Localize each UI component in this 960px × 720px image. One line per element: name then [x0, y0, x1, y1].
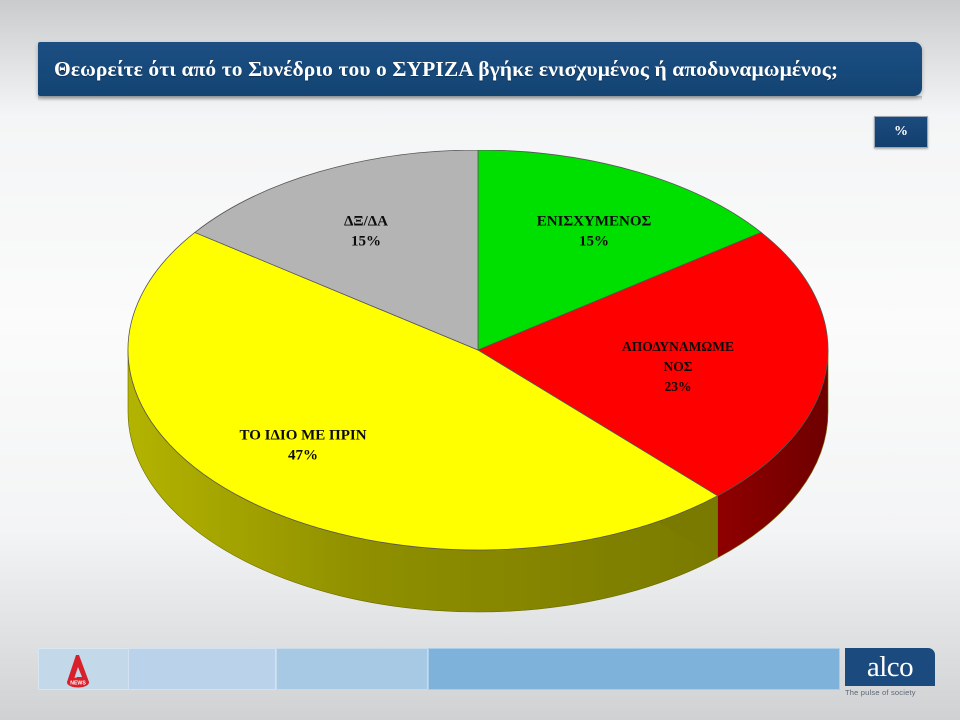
pie-chart: ΕΝΙΣΧΥΜΕΝΟΣ15%ΑΠΟΔΥΝΑΜΩΜΕΝΟΣ23%ΤΟ ΙΔΙΟ Μ…	[0, 150, 960, 630]
slice-label-ΑΠΟΔΥΝΑΜΩΜΕΝΟΣ: 23%	[665, 379, 692, 394]
slice-label-ΑΠΟΔΥΝΑΜΩΜΕΝΟΣ: ΝΟΣ	[663, 359, 692, 374]
slice-label-ΕΝΙΣΧΥΜΕΝΟΣ: 15%	[579, 233, 609, 249]
slice-label-ΤΟ ΙΔΙΟ ΜΕ ΠΡΙΝ: 47%	[288, 447, 318, 463]
footer-segment-2	[128, 648, 276, 690]
slice-label-ΔΞ/ΔΑ: 15%	[351, 233, 381, 249]
footer-bar	[0, 648, 960, 692]
footer-segment-4	[428, 648, 840, 690]
alco-wordmark: alco	[867, 653, 913, 682]
alpha-news-logo: NEWS	[56, 652, 100, 688]
pie-chart-svg: ΕΝΙΣΧΥΜΕΝΟΣ15%ΑΠΟΔΥΝΑΜΩΜΕΝΟΣ23%ΤΟ ΙΔΙΟ Μ…	[0, 150, 960, 630]
banner-shadow	[38, 96, 922, 101]
alpha-news-badge-text: NEWS	[70, 681, 86, 687]
slice-label-ΑΠΟΔΥΝΑΜΩΜΕΝΟΣ: ΑΠΟΔΥΝΑΜΩΜΕ	[622, 339, 734, 354]
slide: Θεωρείτε ότι από το Συνέδριο του ο ΣΥΡΙΖ…	[0, 0, 960, 720]
slice-label-ΕΝΙΣΧΥΜΕΝΟΣ: ΕΝΙΣΧΥΜΕΝΟΣ	[537, 213, 652, 229]
slice-label-ΔΞ/ΔΑ: ΔΞ/ΔΑ	[344, 213, 388, 229]
page-title: Θεωρείτε ότι από το Συνέδριο του ο ΣΥΡΙΖ…	[38, 57, 838, 82]
alco-logo: alco	[845, 648, 935, 686]
unit-badge-label: %	[894, 124, 908, 140]
title-banner: Θεωρείτε ότι από το Συνέδριο του ο ΣΥΡΙΖ…	[38, 42, 922, 96]
unit-badge: %	[874, 116, 928, 148]
alco-tagline: The pulse of society	[845, 688, 945, 697]
footer-segment-3	[276, 648, 428, 690]
slice-label-ΤΟ ΙΔΙΟ ΜΕ ΠΡΙΝ: ΤΟ ΙΔΙΟ ΜΕ ΠΡΙΝ	[239, 427, 366, 443]
